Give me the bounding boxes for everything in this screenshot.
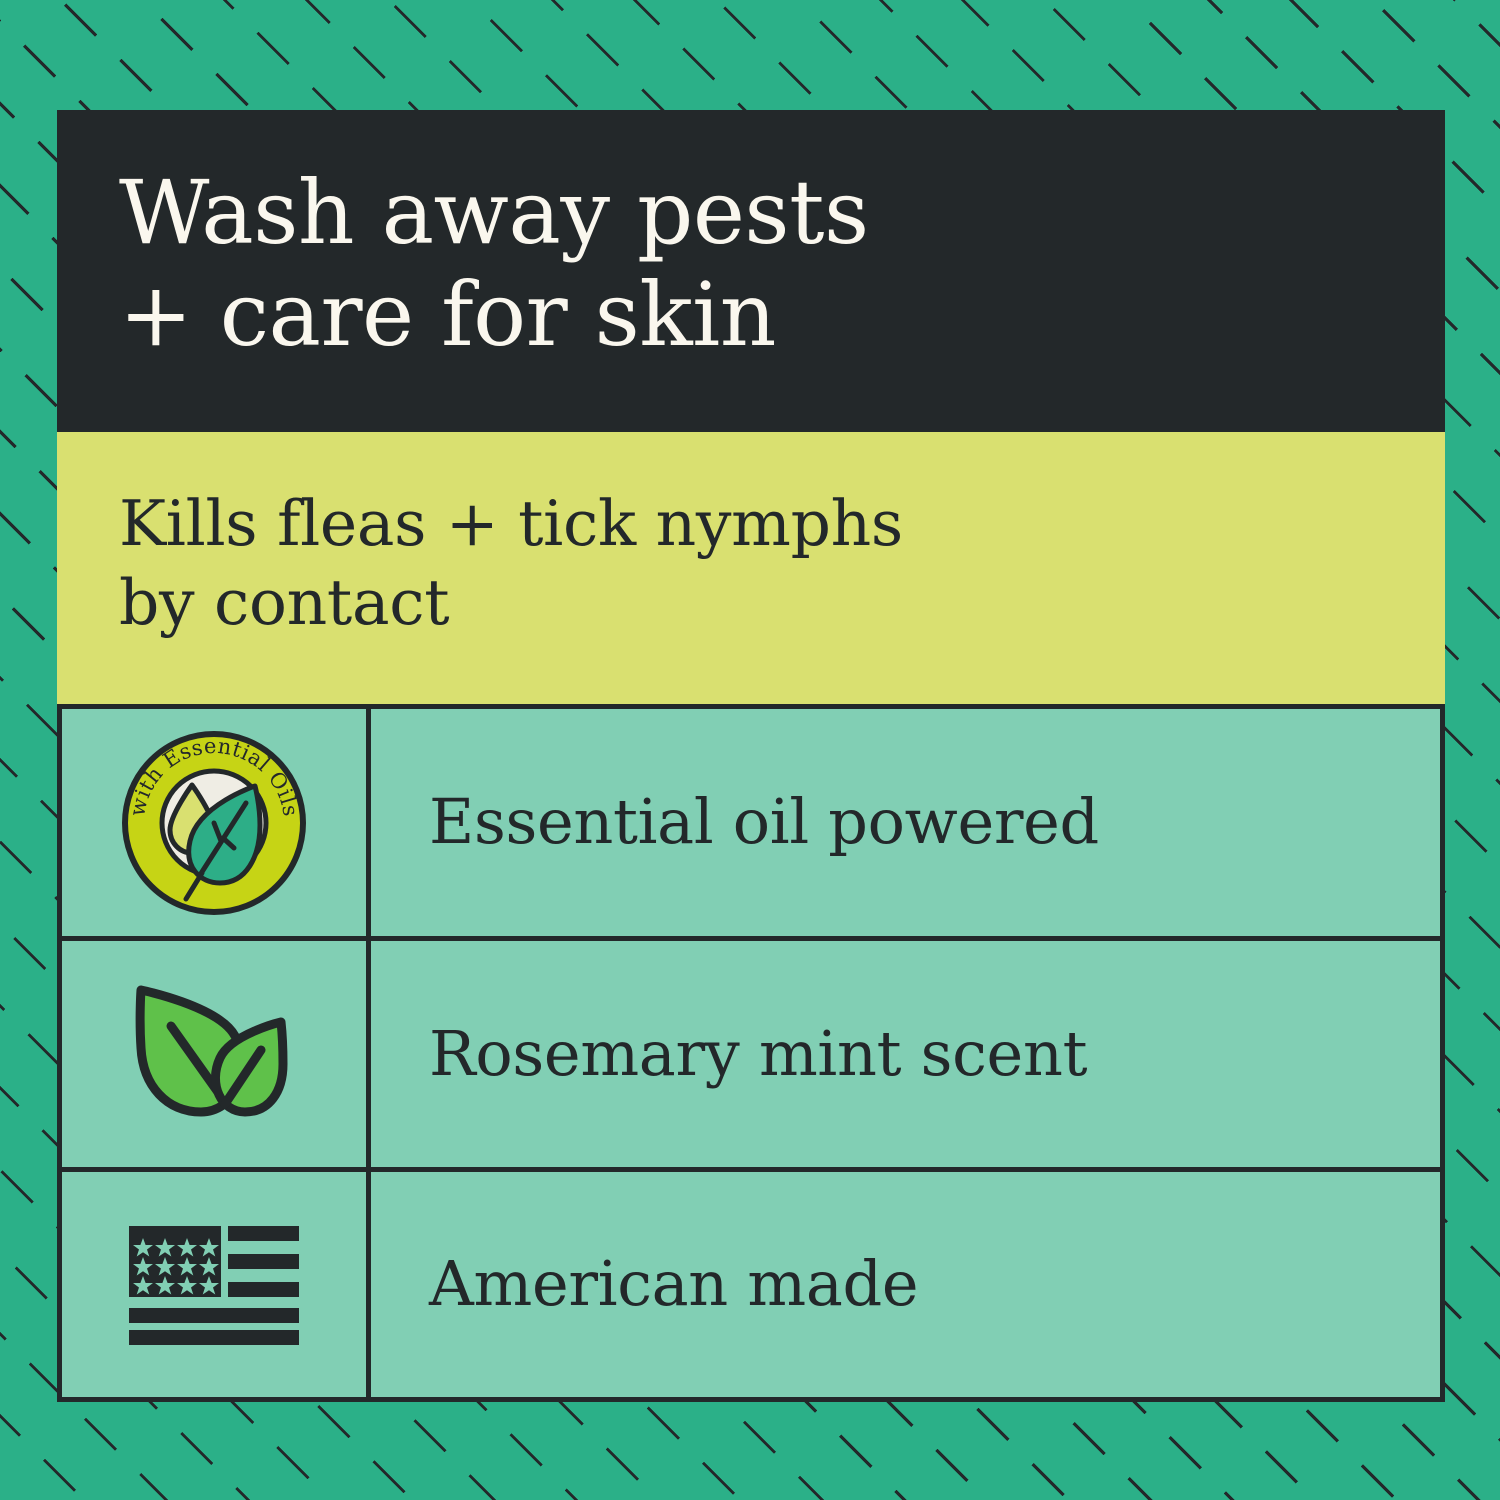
subhead-text: Kills fleas + tick nymphs by contact bbox=[119, 484, 1385, 643]
subhead-panel: Kills fleas + tick nymphs by contact bbox=[57, 432, 1445, 704]
feature-list-table: with Essential Oils Essential oil powere… bbox=[57, 704, 1445, 1402]
two-leaves-icon bbox=[62, 974, 366, 1134]
essential-oils-badge-icon: with Essential Oils bbox=[62, 723, 366, 923]
feature-label-cell: American made bbox=[369, 1170, 1443, 1400]
feature-label: Rosemary mint scent bbox=[429, 1017, 1087, 1090]
feature-icon-cell bbox=[60, 1170, 369, 1400]
feature-row: American made bbox=[60, 1170, 1443, 1400]
american-flag-icon bbox=[62, 1224, 366, 1346]
feature-row: Rosemary mint scent bbox=[60, 939, 1443, 1170]
product-feature-poster: Wash away pests + care for skin Kills fl… bbox=[0, 0, 1500, 1500]
feature-icon-cell: with Essential Oils bbox=[60, 707, 369, 939]
feature-icon-cell bbox=[60, 939, 369, 1170]
headline-text: Wash away pests + care for skin bbox=[119, 162, 1385, 366]
feature-row: with Essential Oils Essential oil powere… bbox=[60, 707, 1443, 939]
headline-panel: Wash away pests + care for skin bbox=[57, 110, 1445, 432]
feature-label-cell: Essential oil powered bbox=[369, 707, 1443, 939]
feature-label: American made bbox=[429, 1247, 918, 1320]
feature-label: Essential oil powered bbox=[429, 785, 1099, 858]
feature-label-cell: Rosemary mint scent bbox=[369, 939, 1443, 1170]
content-card: Wash away pests + care for skin Kills fl… bbox=[57, 110, 1445, 1388]
